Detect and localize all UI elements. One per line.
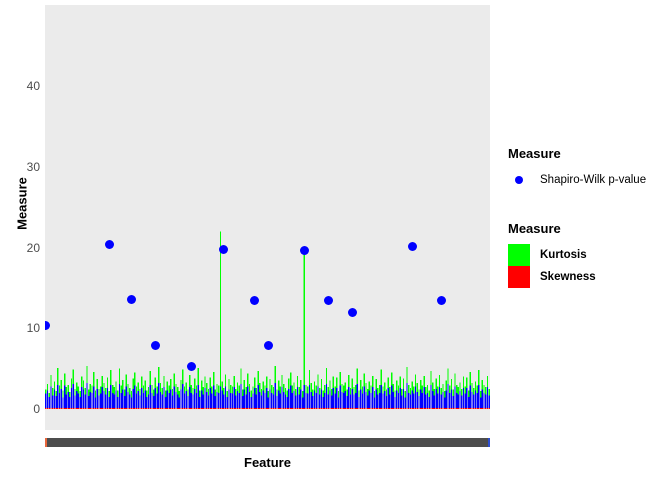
- legend-key-shapiro: [508, 169, 530, 191]
- x-axis-tick-band: [45, 438, 490, 447]
- x-axis-title: Feature: [45, 455, 490, 470]
- y-axis-tick-labels: 010203040: [4, 0, 40, 480]
- chart-root: Measure 010203040 Feature Measure Shapir…: [0, 0, 672, 480]
- scatter-point-shapiro: [300, 246, 309, 255]
- legend-measure-fill: Measure Kurtosis Skewness: [508, 221, 668, 288]
- scatter-point-shapiro: [408, 242, 417, 251]
- scatter-point-shapiro: [250, 296, 259, 305]
- y-tick-label: 10: [6, 322, 40, 334]
- scatter-point-shapiro: [348, 308, 357, 317]
- legend-container: Measure Shapiro-Wilk p-value Measure Kur…: [508, 146, 668, 288]
- y-tick-label: 0: [6, 403, 40, 415]
- scatter-point-shapiro: [127, 295, 136, 304]
- x-axis-band-left-cap: [45, 438, 47, 447]
- scatter-point-shapiro: [324, 296, 333, 305]
- legend-label-shapiro: Shapiro-Wilk p-value: [540, 174, 646, 186]
- scatter-point-shapiro: [219, 245, 228, 254]
- circle-marker-icon: [515, 176, 523, 184]
- scatter-point-shapiro: [45, 321, 50, 330]
- legend-label-kurtosis: Kurtosis: [540, 249, 587, 261]
- legend-item-skewness[interactable]: Skewness: [508, 266, 668, 288]
- scatter-point-shapiro: [187, 362, 196, 371]
- legend-measure-point: Measure Shapiro-Wilk p-value: [508, 146, 668, 191]
- legend-item-shapiro[interactable]: Shapiro-Wilk p-value: [508, 169, 668, 191]
- legend-label-skewness: Skewness: [540, 271, 596, 283]
- square-swatch-icon: [508, 266, 530, 288]
- legend-title-point: Measure: [508, 146, 668, 161]
- legend-key-skewness: [508, 266, 530, 288]
- scatter-point-shapiro: [264, 341, 273, 350]
- legend-title-fill: Measure: [508, 221, 668, 236]
- plot-panel: [45, 5, 490, 430]
- square-swatch-icon: [508, 244, 530, 266]
- scatter-point-shapiro: [437, 296, 446, 305]
- scatter-point-shapiro: [105, 240, 114, 249]
- scatter-point-shapiro: [151, 341, 160, 350]
- y-tick-label: 40: [6, 80, 40, 92]
- y-tick-label: 20: [6, 242, 40, 254]
- scatter-layer: [45, 5, 490, 430]
- y-tick-label: 30: [6, 161, 40, 173]
- legend-item-kurtosis[interactable]: Kurtosis: [508, 244, 668, 266]
- x-axis-band-right-cap: [488, 438, 490, 447]
- legend-key-kurtosis: [508, 244, 530, 266]
